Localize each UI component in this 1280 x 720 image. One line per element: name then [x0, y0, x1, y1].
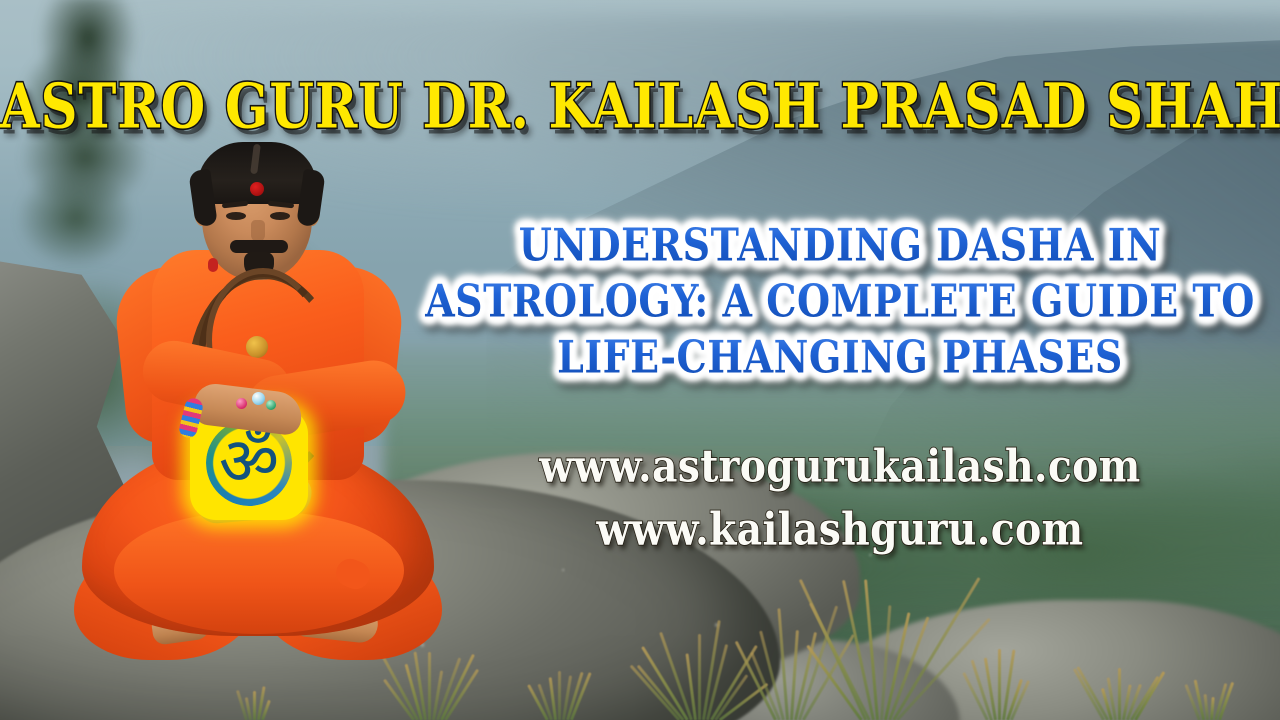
headline-block: UNDERSTANDING DASHA IN ASTROLOGY: A COMP…: [420, 212, 1260, 380]
website-url-secondary[interactable]: www.kailashguru.com: [437, 495, 1243, 564]
finger-ring-pink: [236, 398, 247, 409]
right-eye: [270, 212, 290, 220]
brand-title: ASTRO GURU DR. KAILASH PRASAD SHAH: [0, 70, 1280, 143]
website-url-primary[interactable]: www.astrogurukailash.com: [437, 432, 1243, 501]
headline-line-3: LIFE-CHANGING PHASES: [420, 324, 1260, 390]
left-eye: [226, 212, 246, 220]
website-block: www.astrogurukailash.com www.kailashguru…: [420, 432, 1260, 558]
nose: [251, 220, 265, 242]
promo-banner: ॐ ASTRO GURU DR. KAILASH PRASAD SHAH UND…: [0, 0, 1280, 720]
brand-title-bar: ASTRO GURU DR. KAILASH PRASAD SHAH: [0, 70, 1280, 130]
red-thread: [208, 258, 218, 272]
finger-ring-green: [266, 400, 276, 410]
finger-ring-blue: [252, 392, 265, 405]
astrologer-portrait: ॐ: [56, 140, 456, 660]
tilak-icon: [250, 182, 264, 196]
amber-pendant: [246, 336, 268, 358]
